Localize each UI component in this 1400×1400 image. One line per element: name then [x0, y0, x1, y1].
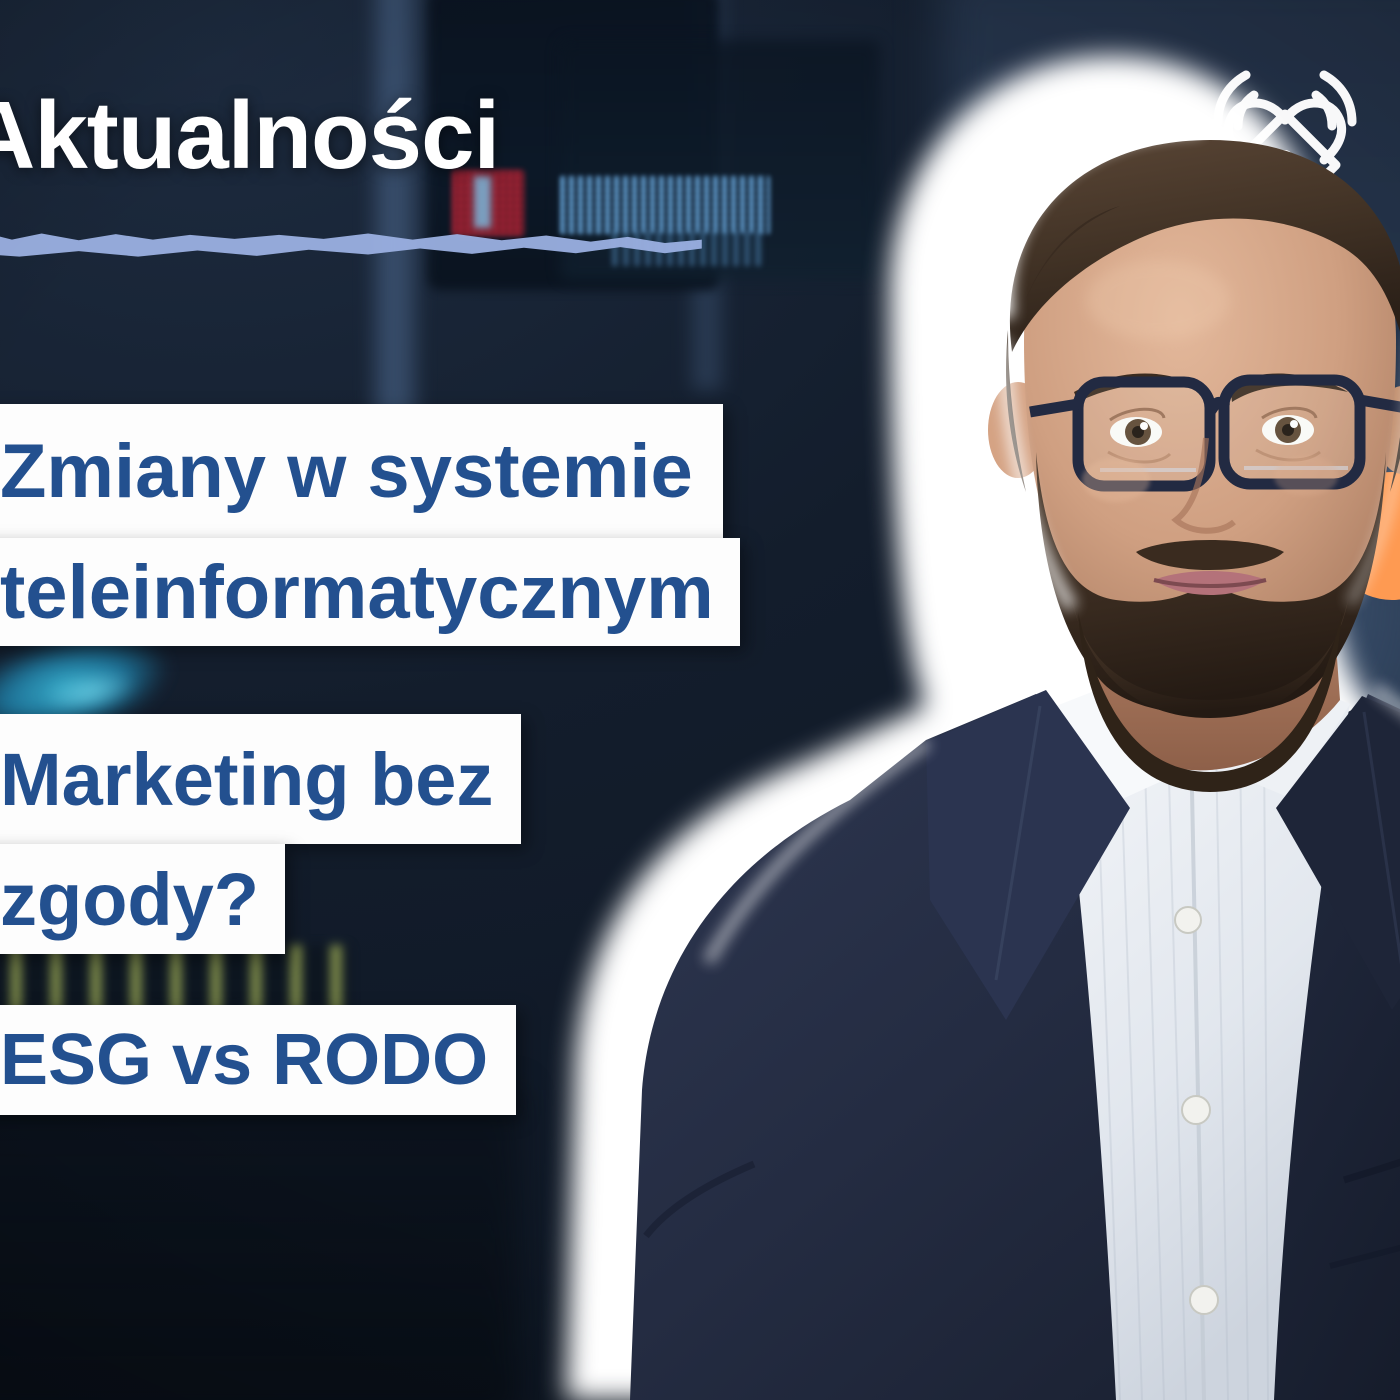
thumbnail-canvas: Aktualności Zmiany w systemie teleinform…	[0, 0, 1400, 1400]
presenter-portrait	[330, 0, 1400, 1400]
headline-2-line-2[interactable]: zgody?	[0, 844, 285, 954]
